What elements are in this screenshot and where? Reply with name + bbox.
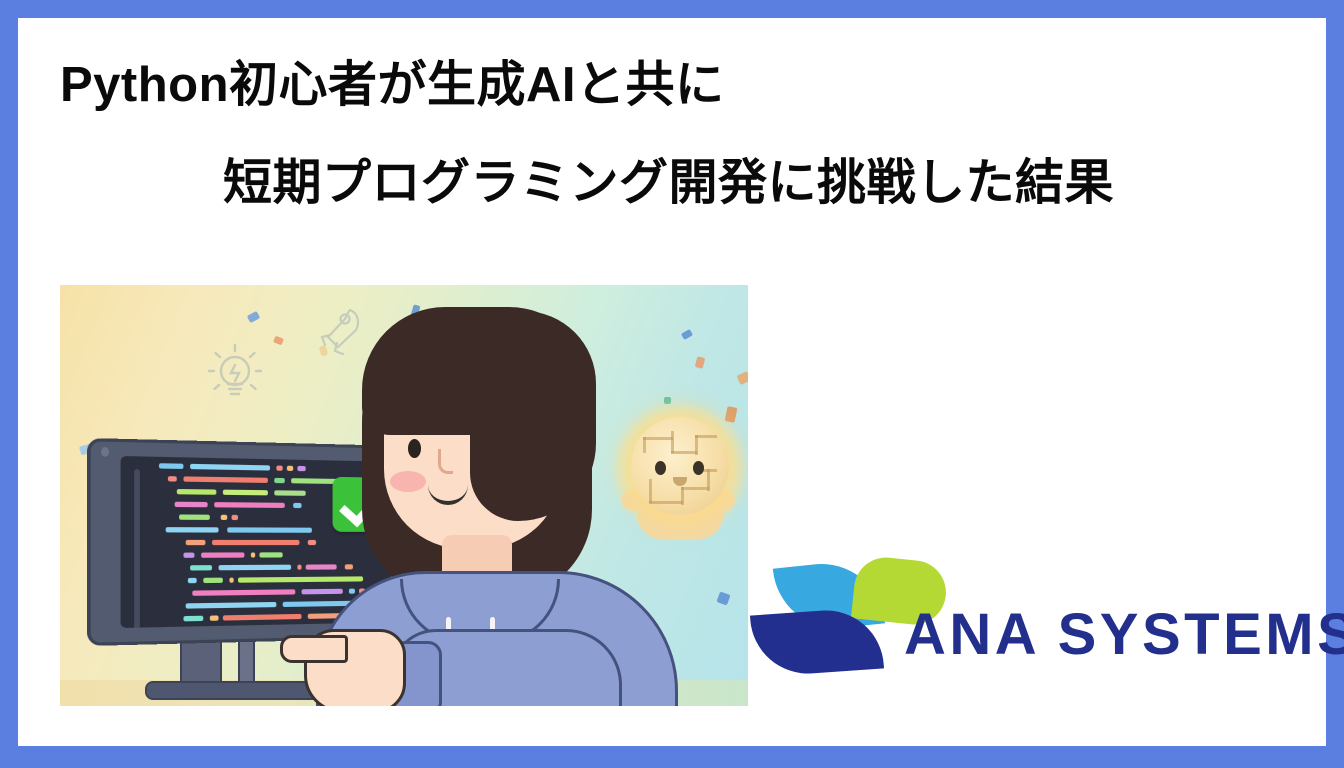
code-line <box>190 464 270 471</box>
hero-illustration <box>60 285 748 706</box>
code-line <box>159 463 183 469</box>
code-line <box>168 476 177 481</box>
cheek-left <box>390 471 426 492</box>
mascot-mouth <box>673 477 687 486</box>
confetti-piece <box>716 591 730 605</box>
confetti-piece <box>681 329 693 340</box>
code-line <box>183 627 259 628</box>
code-line <box>274 478 285 483</box>
code-line <box>166 527 219 532</box>
code-line <box>210 615 219 620</box>
slide-card: Python初心者が生成AIと共に 短期プログラミング開発に挑戦した結果 <box>18 18 1326 746</box>
code-line <box>201 552 244 557</box>
code-line <box>186 602 277 609</box>
code-line <box>306 564 337 569</box>
mascot-eye-right <box>693 461 704 475</box>
lightbulb-icon <box>208 343 262 408</box>
code-line <box>192 589 295 596</box>
code-line <box>183 476 267 483</box>
code-line <box>223 490 268 496</box>
logo-wordmark: ANA SYSTEMS <box>904 601 1344 668</box>
editor-sidebar <box>134 469 140 628</box>
ai-mascot <box>625 415 745 545</box>
confetti-piece <box>695 356 705 369</box>
code-line <box>183 553 194 558</box>
code-line <box>266 626 331 628</box>
page-title: Python初心者が生成AIと共に 短期プログラミング開発に挑戦した結果 <box>18 60 1326 210</box>
code-line <box>214 502 285 508</box>
code-line <box>251 552 255 557</box>
code-line <box>177 489 217 495</box>
code-line <box>293 503 301 508</box>
code-line <box>219 565 292 571</box>
code-line <box>291 478 339 484</box>
monitor-power-dot <box>101 447 109 457</box>
eye-left <box>408 439 421 458</box>
code-line <box>186 540 206 545</box>
code-line <box>276 466 282 471</box>
code-line <box>287 466 293 471</box>
code-line <box>274 490 305 496</box>
confetti-piece <box>736 371 748 385</box>
code-line <box>188 578 197 583</box>
title-line-2: 短期プログラミング開発に挑戦した結果 <box>223 158 1326 210</box>
confetti-piece <box>247 311 260 323</box>
code-line <box>259 552 282 557</box>
confetti-piece <box>273 336 284 346</box>
code-line <box>232 515 238 520</box>
title-line-1: Python初心者が生成AIと共に <box>60 60 1326 112</box>
pointing-finger <box>280 635 348 663</box>
logo-leaf-mark <box>766 555 926 665</box>
code-line <box>183 616 203 622</box>
code-line <box>221 515 228 520</box>
code-line <box>179 514 210 519</box>
nose <box>438 449 453 474</box>
hair-side-sweep <box>470 311 596 521</box>
ana-systems-logo: ANA SYSTEMS <box>758 545 1278 675</box>
code-line <box>190 565 212 570</box>
mascot-eye-left <box>655 461 666 475</box>
code-line <box>227 527 312 532</box>
code-line <box>302 589 343 595</box>
code-line <box>297 565 301 570</box>
code-line <box>175 502 208 508</box>
slide-outer-frame: Python初心者が生成AIと共に 短期プログラミング開発に挑戦した結果 <box>0 0 1344 768</box>
code-line <box>223 614 302 621</box>
code-line <box>203 578 223 583</box>
code-line <box>212 540 299 545</box>
mascot-head <box>631 417 729 515</box>
code-line <box>297 466 305 471</box>
code-line <box>308 540 316 545</box>
code-line <box>229 578 233 583</box>
